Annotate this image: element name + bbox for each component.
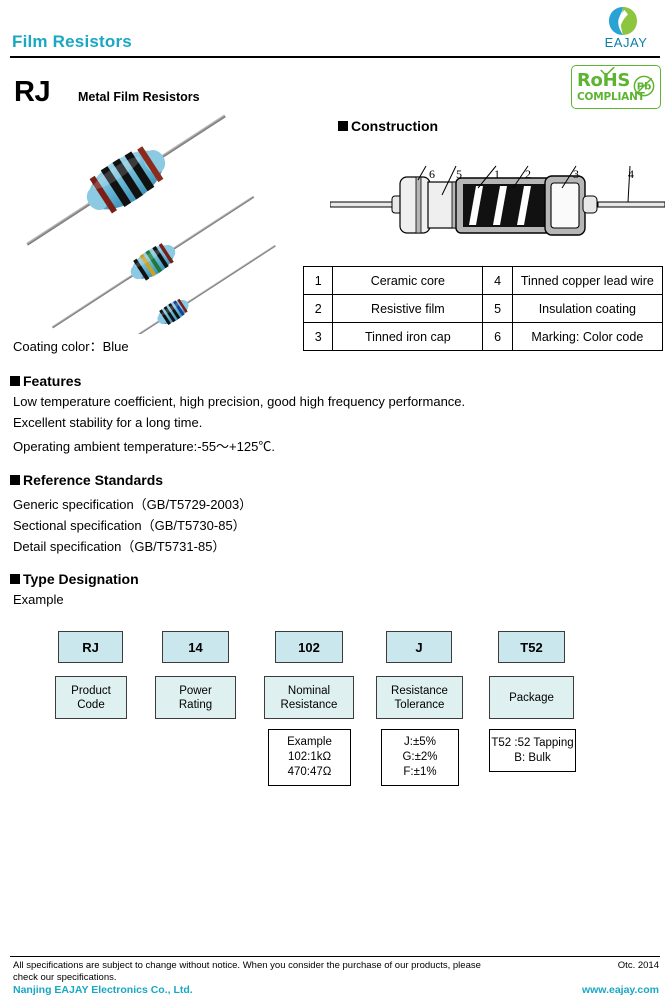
construction-heading-text: Construction [351,118,438,134]
descriptor-package: Package [489,676,574,719]
reference-standards-heading: Reference Standards [10,472,163,488]
features-heading-text: Features [23,373,81,389]
construction-table: 1 Ceramic core 4 Tinned copper lead wire… [303,266,663,351]
row-number: 1 [304,267,333,295]
callout-3: 3 [573,167,579,182]
row-label: Insulation coating [512,295,662,323]
resistor-large [15,112,237,263]
type-designation-heading-text: Type Designation [23,571,139,587]
datasheet-page: Film Resistors EAJAY RJ Metal Film Resis… [0,0,670,1000]
row-label: Resistive film [333,295,483,323]
row-label: Marking: Color code [512,323,662,351]
bullet-square-icon [10,475,20,485]
features-line-3: Operating ambient temperature:-55〜+125℃. [13,436,275,455]
reference-line-3: Detail specification（GB/T5731-85） [13,536,225,555]
coating-color-label: Coating color：Blue [13,336,129,355]
construction-heading: Construction [338,118,438,134]
bullet-square-icon [10,376,20,386]
row-label: Tinned copper lead wire [512,267,662,295]
footer-divider [10,956,660,957]
no-lead-icon: Pb [633,75,655,97]
features-heading: Features [10,373,81,389]
descriptor-power-rating: Power Rating [155,676,236,719]
descriptor-resistance-tolerance: Resistance Tolerance [376,676,463,719]
row-label: Ceramic core [333,267,483,295]
code-box-package: T52 [498,631,565,663]
features-line-2: Excellent stability for a long time. [13,415,202,430]
footer-disclaimer: All specifications are subject to change… [13,960,483,984]
rohs-label: RoHS [577,72,630,90]
logo-text: EAJAY [592,35,660,50]
header-divider [10,56,660,58]
callout-4: 4 [628,167,634,182]
row-number: 2 [304,295,333,323]
row-number: 4 [483,267,512,295]
callout-1: 1 [494,167,500,182]
example-label: Example [13,592,64,607]
code-box-tolerance: J [386,631,452,663]
detail-resistance-tolerance: J:±5% G:±2% F:±1% [381,729,459,786]
callout-2: 2 [525,167,531,182]
code-box-power: 14 [162,631,229,663]
company-logo: EAJAY [592,6,660,52]
row-number: 5 [483,295,512,323]
reference-standards-heading-text: Reference Standards [23,472,163,488]
reference-line-2: Sectional specification（GB/T5730-85） [13,515,246,534]
table-row: 2 Resistive film 5 Insulation coating [304,295,663,323]
eajay-leaf-icon [608,6,638,36]
page-title: Film Resistors [12,32,132,52]
detail-package: T52 :52 Tapping B: Bulk [489,729,576,772]
callout-5: 5 [456,167,462,182]
rohs-badge: RoHS COMPLIANT Pb [571,65,661,109]
code-box-resistance: 102 [275,631,343,663]
bullet-square-icon [10,574,20,584]
table-row: 1 Ceramic core 4 Tinned copper lead wire [304,267,663,295]
reference-line-1: Generic specification（GB/T5729-2003） [13,494,252,513]
footer-date: Otc. 2014 [618,960,659,971]
row-number: 3 [304,323,333,351]
features-line-1: Low temperature coefficient, high precis… [13,394,465,409]
footer-company: Nanjing EAJAY Electronics Co., Ltd. [13,984,193,996]
callout-6: 6 [429,167,435,182]
footer-website[interactable]: www.eajay.com [582,984,659,996]
product-description: Metal Film Resistors [78,90,200,104]
resistor-medium [46,186,261,334]
descriptor-product-code: Product Code [55,676,127,719]
code-box-product: RJ [58,631,123,663]
row-number: 6 [483,323,512,351]
product-code: RJ [14,76,50,109]
bullet-square-icon [338,121,348,131]
descriptor-nominal-resistance: Nominal Resistance [264,676,354,719]
detail-nominal-resistance: Example 102:1kΩ 470:47Ω [268,729,351,786]
table-row: 3 Tinned iron cap 6 Marking: Color code [304,323,663,351]
row-label: Tinned iron cap [333,323,483,351]
type-designation-heading: Type Designation [10,571,139,587]
product-photo [8,112,298,334]
